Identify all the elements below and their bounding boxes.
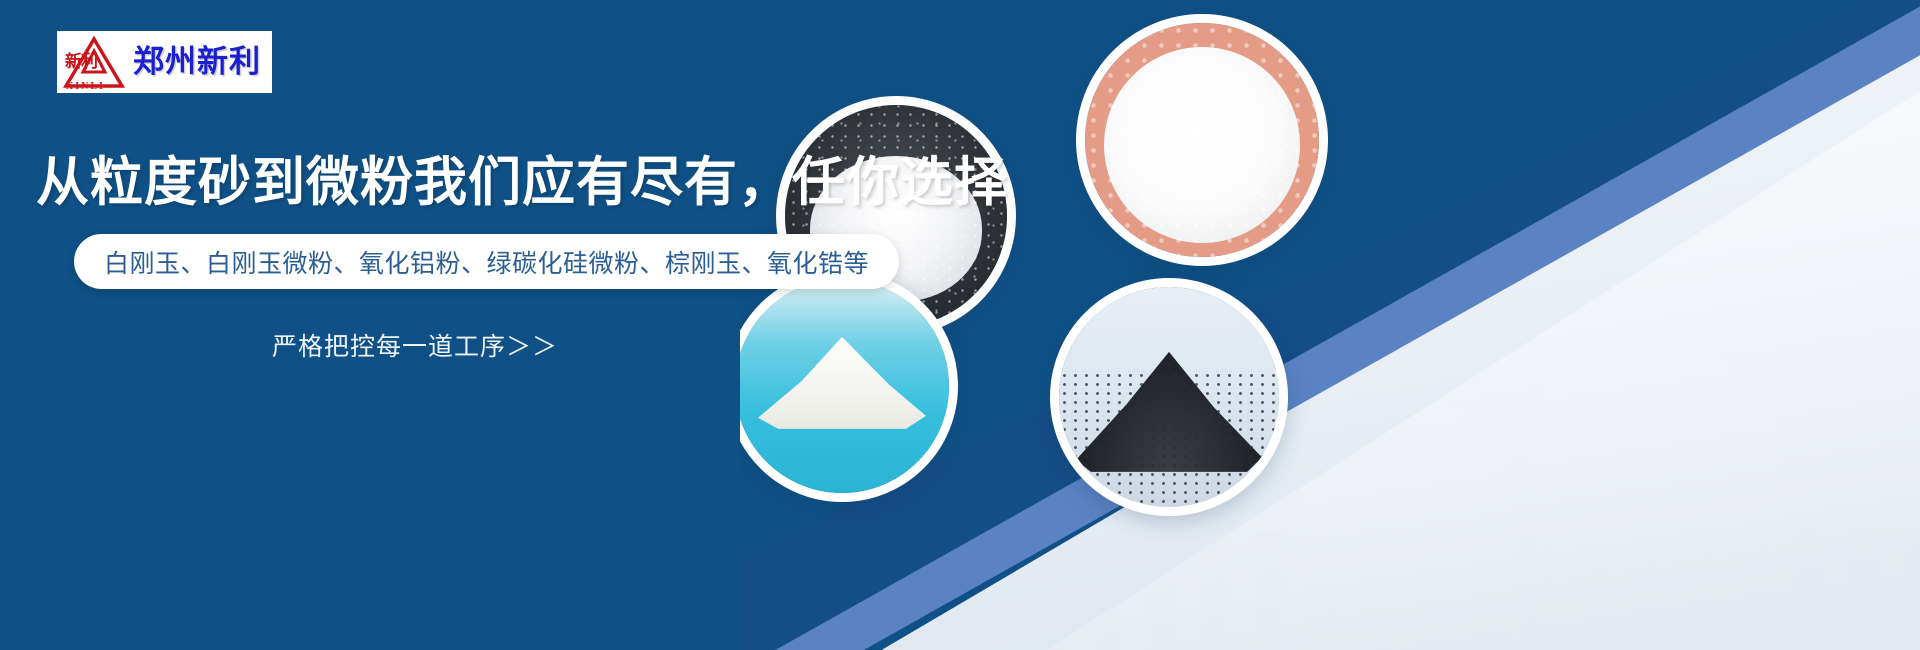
- logo-pinyin-label: XINLI: [66, 81, 105, 92]
- powder-heap-shape: [758, 337, 926, 429]
- cta-link[interactable]: 严格把控每一道工序＞＞: [272, 327, 558, 363]
- product-collage: [740, 0, 1920, 650]
- product-image-alumina-powder-on-cyan: [740, 279, 949, 493]
- promo-banner: 新利 XINLI 郑州新利 从粒度砂到微粉我们应有尽有，任你选择 白刚玉、白刚玉…: [0, 0, 1920, 650]
- triangle-logo-icon: 新利 XINLI: [63, 35, 125, 89]
- logo-mark-label: 新利: [65, 54, 97, 71]
- product-image-white-alumina-micropowder: [1085, 23, 1319, 257]
- grain-texture-overlay: [1059, 371, 1279, 507]
- company-logo[interactable]: 新利 XINLI 郑州新利: [57, 31, 272, 93]
- product-list-text: 白刚玉、白刚玉微粉、氧化铝粉、绿碳化硅微粉、棕刚玉、氧化锆等: [104, 244, 869, 280]
- logo-wordmark: 郑州新利: [133, 47, 261, 78]
- product-image-black-silicon-carbide-grit: [1059, 287, 1279, 507]
- product-circle-black-silicon-carbide-grit: [1050, 278, 1288, 516]
- grain-texture-overlay: [1085, 23, 1319, 257]
- product-circle-white-alumina-micropowder: [1076, 14, 1328, 266]
- product-list-pill: 白刚玉、白刚玉微粉、氧化铝粉、绿碳化硅微粉、棕刚玉、氧化锆等: [74, 234, 899, 289]
- product-circle-alumina-powder-on-cyan: [740, 270, 958, 502]
- page-title: 从粒度砂到微粉我们应有尽有，任你选择: [36, 140, 1008, 216]
